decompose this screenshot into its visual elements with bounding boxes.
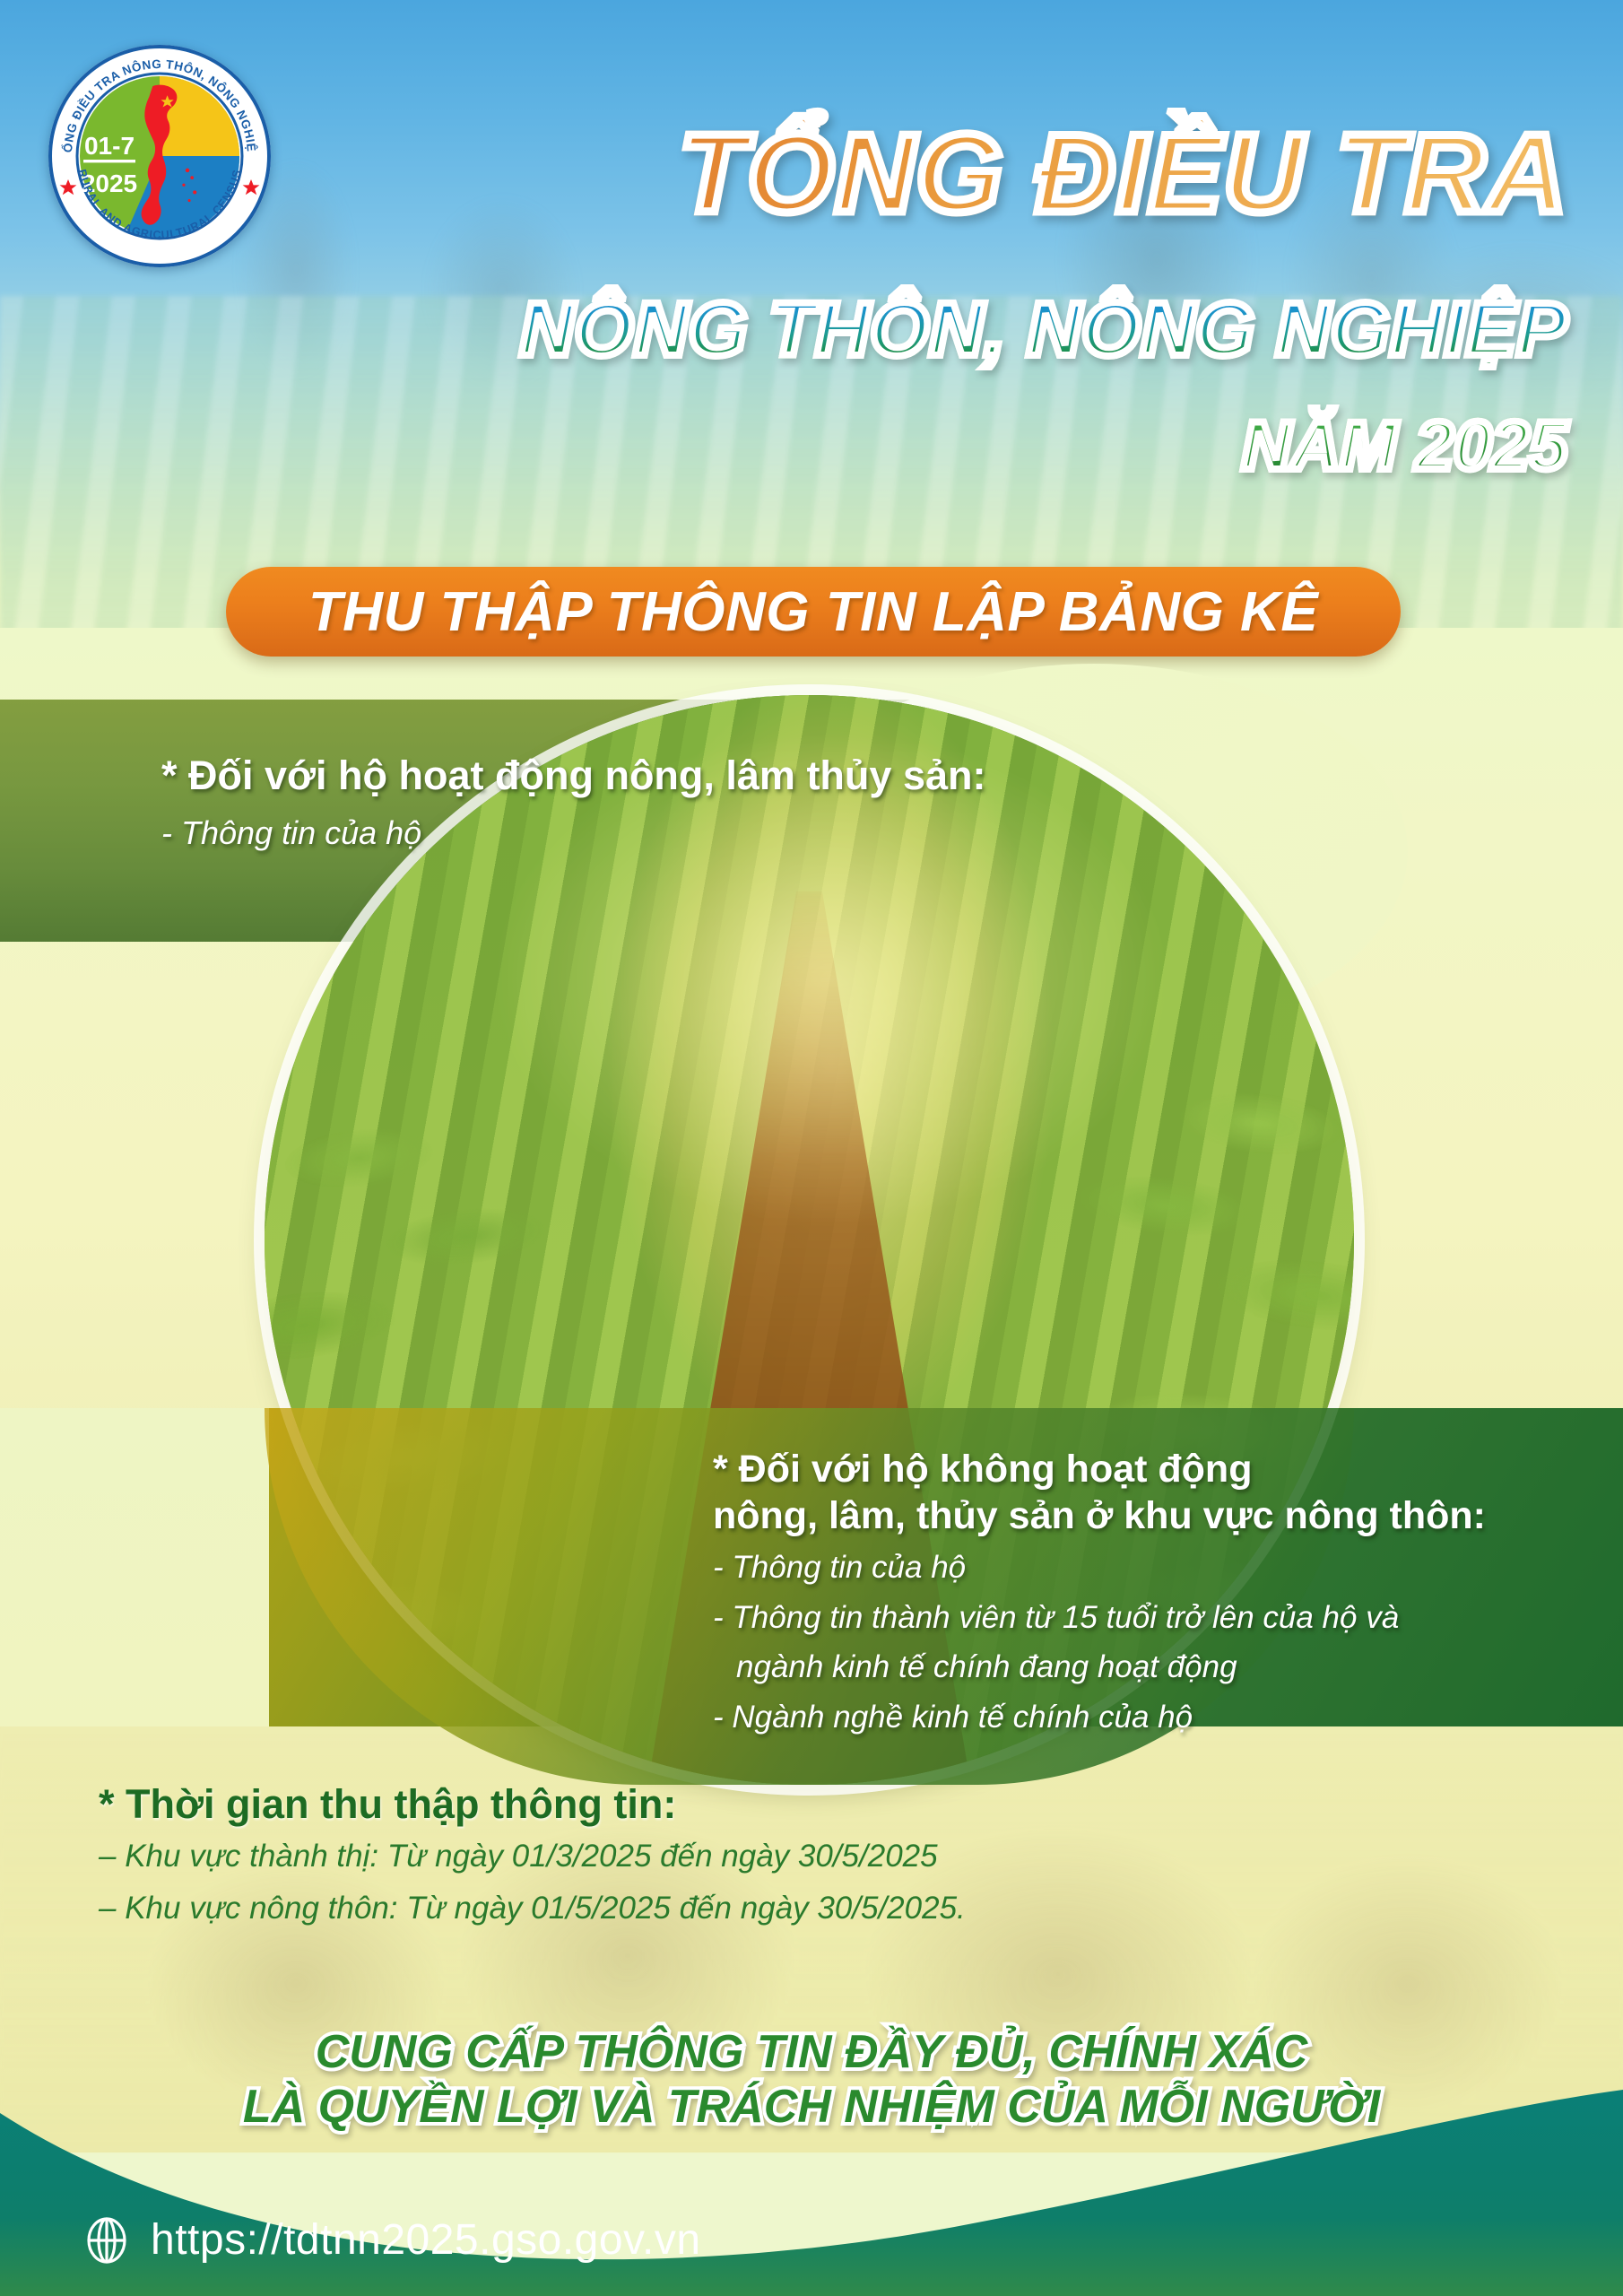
page-title-line1: TỔNG ĐIỀU TRA (0, 118, 1567, 230)
footer-url-text[interactable]: https://tdtnn2025.gso.gov.vn (151, 2215, 701, 2265)
collection-time-item-1: – Khu vực nông thôn: Từ ngày 01/5/2025 đ… (99, 1884, 966, 1933)
globe-icon (82, 2216, 131, 2265)
page-title-line2: NÔNG THÔN, NÔNG NGHIỆP (0, 291, 1567, 367)
section-banner: THU THẬP THÔNG TIN LẬP BẢNG KÊ (226, 567, 1401, 657)
collection-time-heading: * Thời gian thu thập thông tin: (99, 1780, 966, 1829)
slogan-line1: CUNG CẤP THÔNG TIN ĐẦY ĐỦ, CHÍNH XÁC (0, 2025, 1623, 2080)
nonfarm-item-3: - Ngành nghề kinh tế chính của hộ (713, 1695, 1486, 1740)
nonfarm-item-1: - Thông tin thành viên từ 15 tuổi trở lê… (713, 1596, 1486, 1640)
nonfarm-item-0: - Thông tin của hộ (713, 1545, 1486, 1590)
farm-household-item-0: - Thông tin của hộ (161, 810, 985, 856)
nonfarm-household-text: * Đối với hộ không hoạt động nông, lâm, … (713, 1446, 1486, 1740)
farm-household-text: * Đối với hộ hoạt động nông, lâm thủy sả… (161, 752, 985, 856)
page-title-line3: NĂM 2025 (0, 413, 1567, 481)
section-banner-label: THU THẬP THÔNG TIN LẬP BẢNG KÊ (308, 580, 1318, 644)
census-poster: 01-7 2025 TỔNG ĐIỀU TRA NÔNG THÔN, NÔNG … (0, 0, 1623, 2296)
farm-household-heading: * Đối với hộ hoạt động nông, lâm thủy sả… (161, 752, 985, 801)
nonfarm-band-left-gap (0, 1408, 269, 1726)
collection-time-block: * Thời gian thu thập thông tin: – Khu vự… (99, 1780, 966, 1934)
nonfarm-item-2: ngành kinh tế chính đang hoạt động (713, 1645, 1486, 1690)
footer-url-row[interactable]: https://tdtnn2025.gso.gov.vn (82, 2215, 701, 2265)
collection-time-item-0: – Khu vực thành thị: Từ ngày 01/3/2025 đ… (99, 1832, 966, 1881)
nonfarm-heading-line2: nông, lâm, thủy sản ở khu vực nông thôn: (713, 1492, 1486, 1539)
nonfarm-heading-line1: * Đối với hộ không hoạt động (713, 1446, 1486, 1492)
footer-wave (0, 2090, 1623, 2296)
